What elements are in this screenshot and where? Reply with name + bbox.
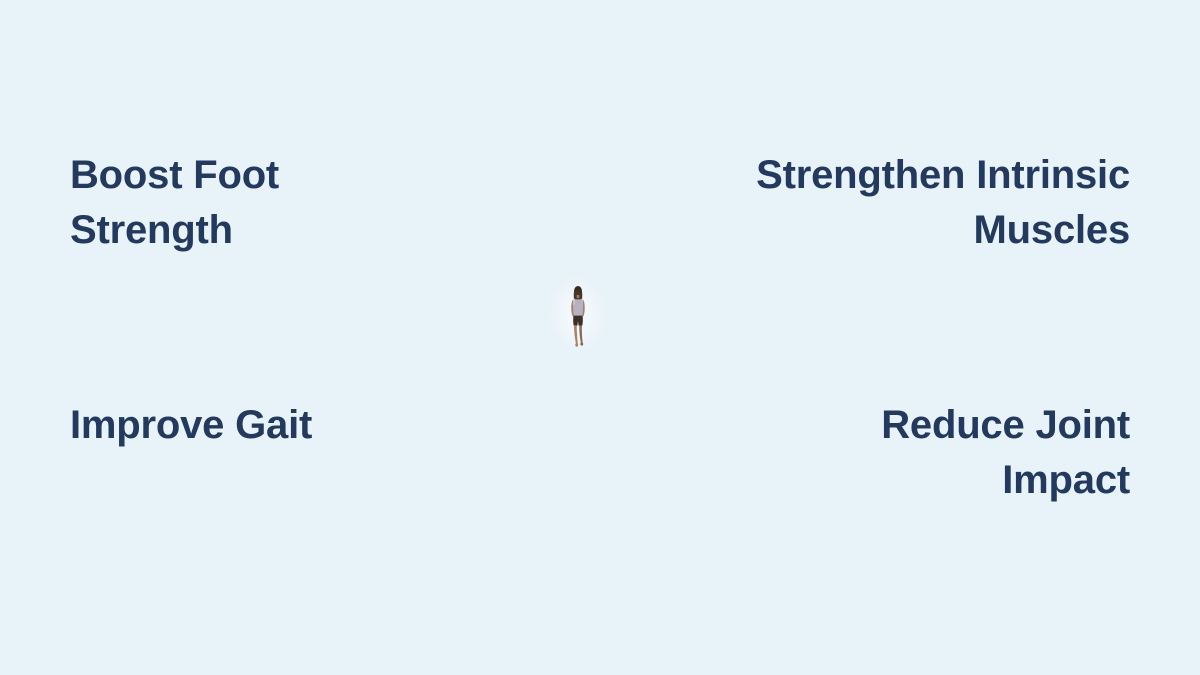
- benefit-label-improve-gait: Improve Gait: [70, 398, 510, 453]
- center-figure: [546, 268, 610, 360]
- benefit-label-reduce-joint-impact: Reduce Joint Impact: [690, 398, 1130, 508]
- benefit-label-boost-foot-strength: Boost Foot Strength: [70, 148, 510, 258]
- walking-person-photo: [564, 285, 592, 347]
- benefit-label-strengthen-intrinsic-muscles: Strengthen Intrinsic Muscles: [690, 148, 1130, 258]
- infographic-canvas: Boost Foot Strength Strengthen Intrinsic…: [0, 0, 1200, 675]
